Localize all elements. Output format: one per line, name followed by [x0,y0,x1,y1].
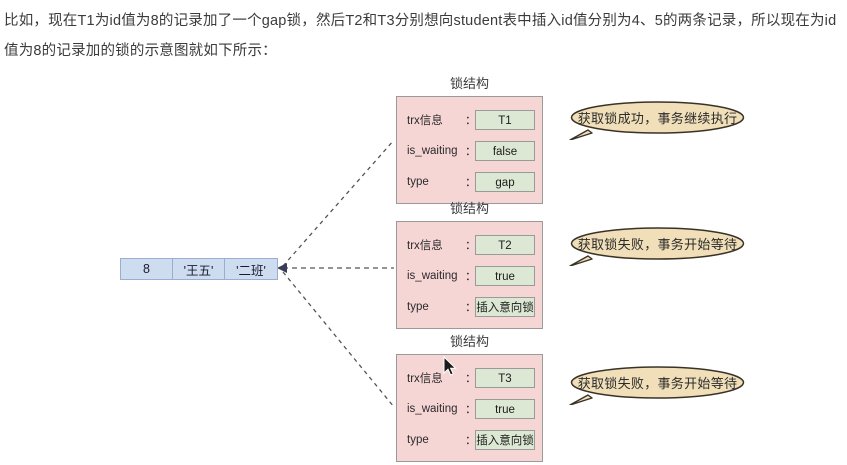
lock-3-colon-type: ： [465,432,475,448]
callout-bubble-1: 获取锁成功，事务继续执行 [566,100,749,140]
lock-1-row-trx: trx信息 ： T1 [397,107,542,133]
lock-1-value-is-waiting: false [475,141,535,161]
record-cell-id: 8 [121,259,173,279]
lock-3-value-trx: T3 [475,368,535,388]
lock-2-key-type: type [397,301,465,313]
lock-1-colon-is-waiting: ： [465,143,475,159]
lock-structure-2: 锁结构 trx信息 ： T2 is_waiting ： true type ： … [396,201,543,329]
lock-structure-1-title: 锁结构 [396,76,543,92]
lock-2-colon-is-waiting: ： [465,268,475,284]
lock-1-colon-type: ： [465,174,475,190]
lock-2-colon-type: ： [465,299,475,315]
lock-3-colon-is-waiting: ： [465,401,475,417]
lock-1-key-is-waiting: is_waiting [397,145,465,157]
lock-2-row-trx: trx信息 ： T2 [397,232,542,258]
lock-structure-2-title: 锁结构 [396,201,543,217]
lock-2-value-is-waiting: true [475,266,535,286]
lock-1-key-trx: trx信息 [397,112,465,128]
lock-3-key-type: type [397,434,465,446]
lock-2-key-is-waiting: is_waiting [397,270,465,282]
lock-3-colon-trx: ： [465,370,475,386]
callout-2-text: 获取锁失败，事务开始等待 [566,226,749,261]
connector-to-lock-1 [283,140,394,266]
lock-3-value-type: 插入意向锁 [475,430,535,450]
lock-2-row-type: type ： 插入意向锁 [397,294,542,320]
student-record-row[interactable]: 8 '王五' '二班' [120,258,278,280]
lock-3-key-is-waiting: is_waiting [397,403,465,415]
callout-3-text: 获取锁失败，事务开始等待 [566,365,749,400]
lock-2-colon-trx: ： [465,237,475,253]
lock-1-value-type: gap [475,172,535,192]
record-cell-class: '二班' [225,259,277,279]
lock-structure-3: 锁结构 trx信息 ： T3 is_waiting ： true type ： … [396,334,543,462]
diagram-page: 比如，现在T1为id值为8的记录加了一个gap锁，然后T2和T3分别想向stud… [0,0,847,465]
lock-structure-3-title: 锁结构 [396,334,543,350]
intro-paragraph: 比如，现在T1为id值为8的记录加了一个gap锁，然后T2和T3分别想向stud… [4,6,842,66]
callout-bubble-3: 获取锁失败，事务开始等待 [566,365,749,405]
record-cell-name: '王五' [173,259,225,279]
mouse-pointer-icon [443,356,457,377]
lock-structure-2-box: trx信息 ： T2 is_waiting ： true type ： 插入意向… [396,221,543,329]
lock-1-value-trx: T1 [475,110,535,130]
lock-1-key-type: type [397,176,465,188]
connector-to-lock-3 [283,272,394,407]
lock-structure-3-box: trx信息 ： T3 is_waiting ： true type ： 插入意向… [396,354,543,462]
lock-structure-1-box: trx信息 ： T1 is_waiting ： false type ： gap [396,96,543,204]
lock-1-row-is-waiting: is_waiting ： false [397,138,542,164]
lock-1-colon-trx: ： [465,112,475,128]
lock-3-row-type: type ： 插入意向锁 [397,427,542,453]
lock-2-value-type: 插入意向锁 [475,297,535,317]
lock-structure-1: 锁结构 trx信息 ： T1 is_waiting ： false type ：… [396,76,543,204]
connector-arrowhead [277,263,287,273]
lock-2-value-trx: T2 [475,235,535,255]
lock-1-row-type: type ： gap [397,169,542,195]
lock-3-row-trx: trx信息 ： T3 [397,365,542,391]
lock-2-row-is-waiting: is_waiting ： true [397,263,542,289]
lock-3-value-is-waiting: true [475,399,535,419]
callout-1-text: 获取锁成功，事务继续执行 [566,100,749,135]
lock-2-key-trx: trx信息 [397,237,465,253]
lock-3-row-is-waiting: is_waiting ： true [397,396,542,422]
callout-bubble-2: 获取锁失败，事务开始等待 [566,226,749,266]
